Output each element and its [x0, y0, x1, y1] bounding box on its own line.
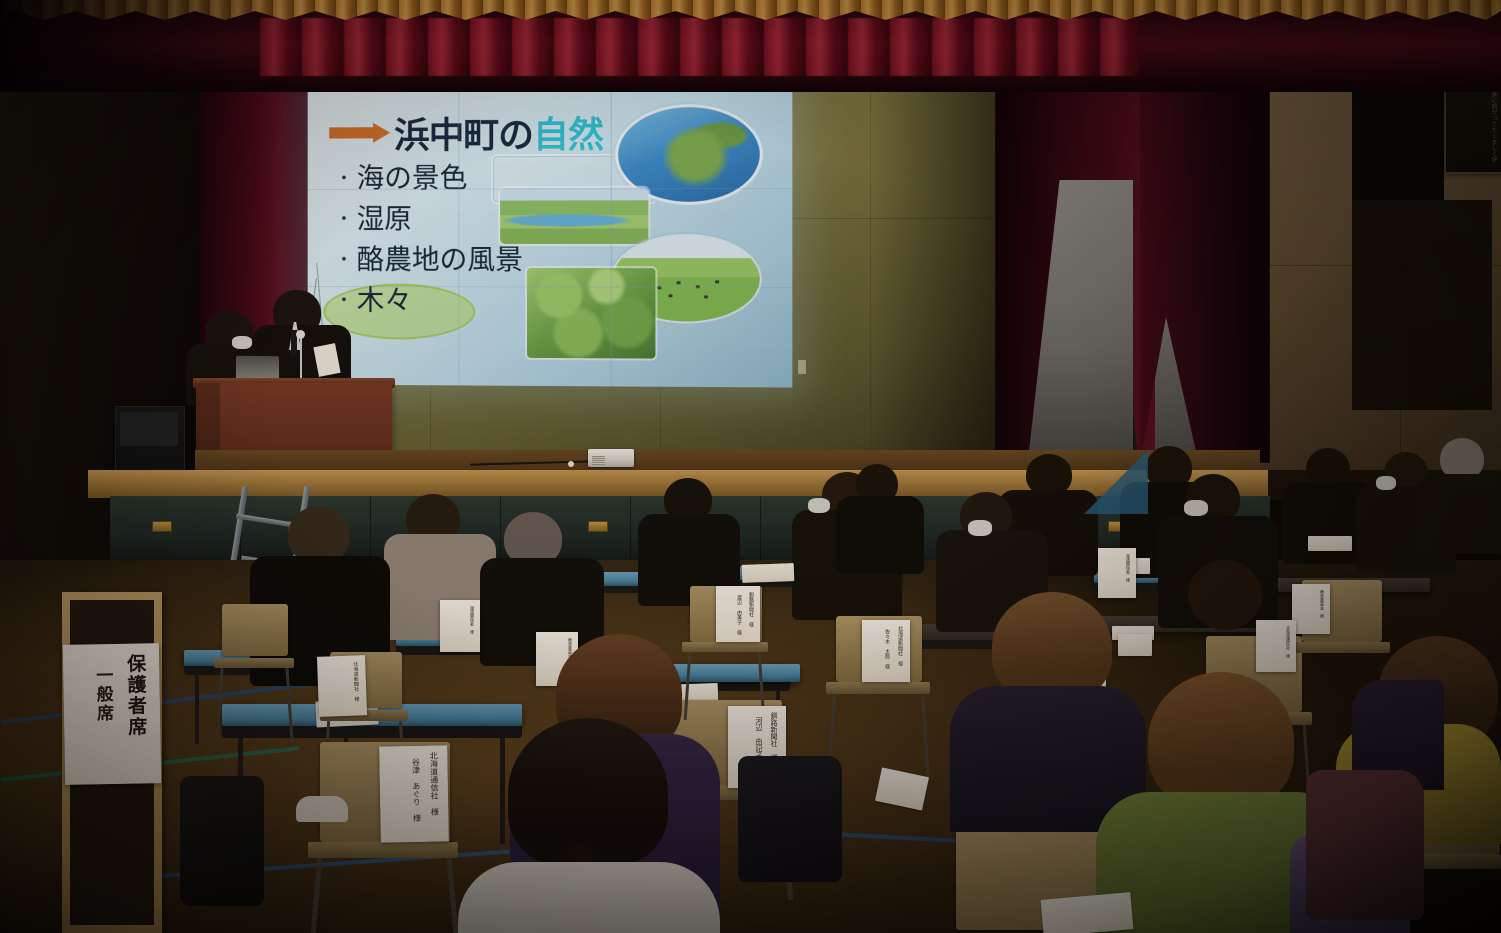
name-card-person: 谷津 あぐり 様	[410, 758, 422, 822]
name-card-person: 佐々木 太郎 様	[884, 629, 891, 669]
name-card-org: 北海道通信社 様	[1285, 626, 1291, 658]
wall-dark-panel	[1352, 200, 1492, 410]
handout-document	[1118, 634, 1152, 656]
valance-shadow	[0, 0, 300, 92]
name-card: 北海道新聞社 様	[317, 655, 367, 717]
bag-on-floor	[738, 756, 842, 882]
name-card: 報道関係者 様	[1098, 548, 1136, 598]
projector-remote	[568, 461, 574, 467]
document-on-table	[1308, 536, 1352, 551]
stage-valance-pleats	[260, 18, 1140, 76]
speaker-grille	[120, 412, 178, 446]
microphone-head-icon	[296, 330, 305, 339]
presenter-laptop-screen[interactable]	[236, 356, 279, 381]
name-card-org: 報道関係者 様	[469, 606, 475, 634]
seating-sign-line1: 保護者席	[122, 653, 151, 773]
auditorium-presentation-scene: 教育目標 ふるさとを愛し 夢に向かってたくましく学ぶ子どもの育成	[0, 0, 1501, 933]
table-edge	[222, 726, 522, 738]
stage-panel-latch[interactable]	[588, 521, 608, 532]
stage-panel-seam	[630, 496, 631, 562]
name-card-person: 渡辺 由美子 様	[736, 595, 743, 635]
handout-document	[1041, 892, 1134, 933]
handbag	[1306, 770, 1424, 920]
shoe	[296, 796, 348, 822]
name-card-org: 北海道新聞社 様	[897, 626, 904, 666]
name-card: 教育委員会 様	[1292, 584, 1330, 634]
name-card-org: 北海道通信社 様	[428, 752, 440, 816]
stage-wall-shadow	[870, 68, 1005, 458]
screen-projector-grid	[308, 86, 793, 387]
stage-panel-seam	[500, 496, 501, 562]
name-card-org: 報道関係者 様	[1125, 554, 1131, 582]
name-card: 北海道通信社 様 谷津 あぐり 様	[379, 745, 449, 842]
projection-screen: 浜中町の自然 ・海の景色 ・湿原 ・酪農地の風景 ・木々	[308, 86, 793, 387]
stage-panel-seam	[760, 496, 761, 562]
seating-sign-line2: 一般席	[90, 666, 117, 770]
name-card-org: 教育委員会 様	[1319, 590, 1325, 618]
name-card-org: 釧路新聞社 様	[748, 592, 755, 627]
name-card: 北海道新聞社 様 佐々木 太郎 様	[862, 620, 910, 682]
wall-light-switch[interactable]	[798, 360, 806, 374]
name-card: 報道関係者 様	[440, 600, 480, 652]
name-card-org: 北海道新聞社 様	[352, 661, 360, 701]
name-card-org: 釧路新聞社 様	[769, 712, 779, 761]
projector-vent	[592, 456, 605, 465]
name-card: 釧路新聞社 様 渡辺 由美子 様	[716, 586, 760, 642]
seating-sign: 保護者席 一般席	[63, 643, 161, 785]
name-card: 北海道通信社 様	[1256, 620, 1296, 672]
stage-panel-latch[interactable]	[152, 521, 172, 532]
stage-panel-seam	[370, 496, 371, 562]
bag-on-floor	[180, 776, 264, 906]
document-on-table	[742, 563, 795, 583]
